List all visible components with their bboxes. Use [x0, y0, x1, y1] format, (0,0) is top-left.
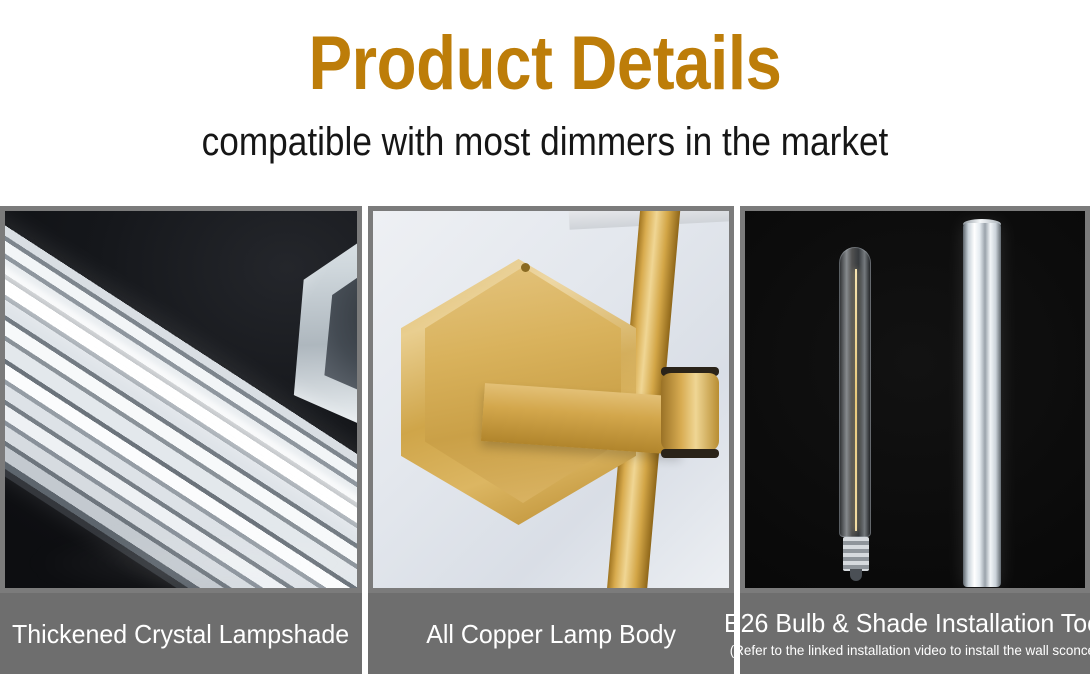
caption-bar: E26 Bulb & Shade Installation Tool (Refe… — [740, 593, 1090, 674]
crystal-lampshade-photo — [0, 206, 362, 593]
caption-bar: Thickened Crystal Lampshade — [0, 593, 362, 674]
bulb-base-tip — [850, 569, 862, 581]
copper-lamp-body-photo — [368, 206, 734, 593]
feature-panel-copper-lamp-body: All Copper Lamp Body — [368, 206, 734, 674]
feature-panel-bulb-and-tool: E26 Bulb & Shade Installation Tool (Refe… — [740, 206, 1090, 674]
brass-joint — [661, 373, 719, 451]
bulb-screw-base — [843, 537, 869, 571]
bulb-filament — [855, 269, 857, 531]
caption-bar: All Copper Lamp Body — [368, 593, 734, 674]
product-details-page: Product Details compatible with most dim… — [0, 0, 1090, 674]
page-subtitle: compatible with most dimmers in the mark… — [65, 118, 1024, 166]
feature-panel-grid: Thickened Crystal Lampshade All Copper L… — [0, 206, 1090, 674]
tube-shadow — [25, 528, 362, 593]
caption-text: All Copper Lamp Body — [426, 619, 676, 649]
header: Product Details compatible with most dim… — [0, 0, 1090, 200]
plate-screw — [521, 263, 530, 272]
black-backdrop — [745, 211, 1085, 588]
caption-text: Thickened Crystal Lampshade — [12, 619, 349, 649]
feature-panel-crystal-lampshade: Thickened Crystal Lampshade — [0, 206, 362, 674]
caption-subtext: (Refer to the linked installation video … — [730, 641, 1090, 659]
joint-bottom-collar — [661, 449, 719, 458]
page-title: Product Details — [76, 22, 1013, 106]
shade-installation-tool — [963, 223, 1001, 587]
caption-text: E26 Bulb & Shade Installation Tool — [724, 608, 1090, 638]
bulb-and-tool-photo — [740, 206, 1090, 593]
